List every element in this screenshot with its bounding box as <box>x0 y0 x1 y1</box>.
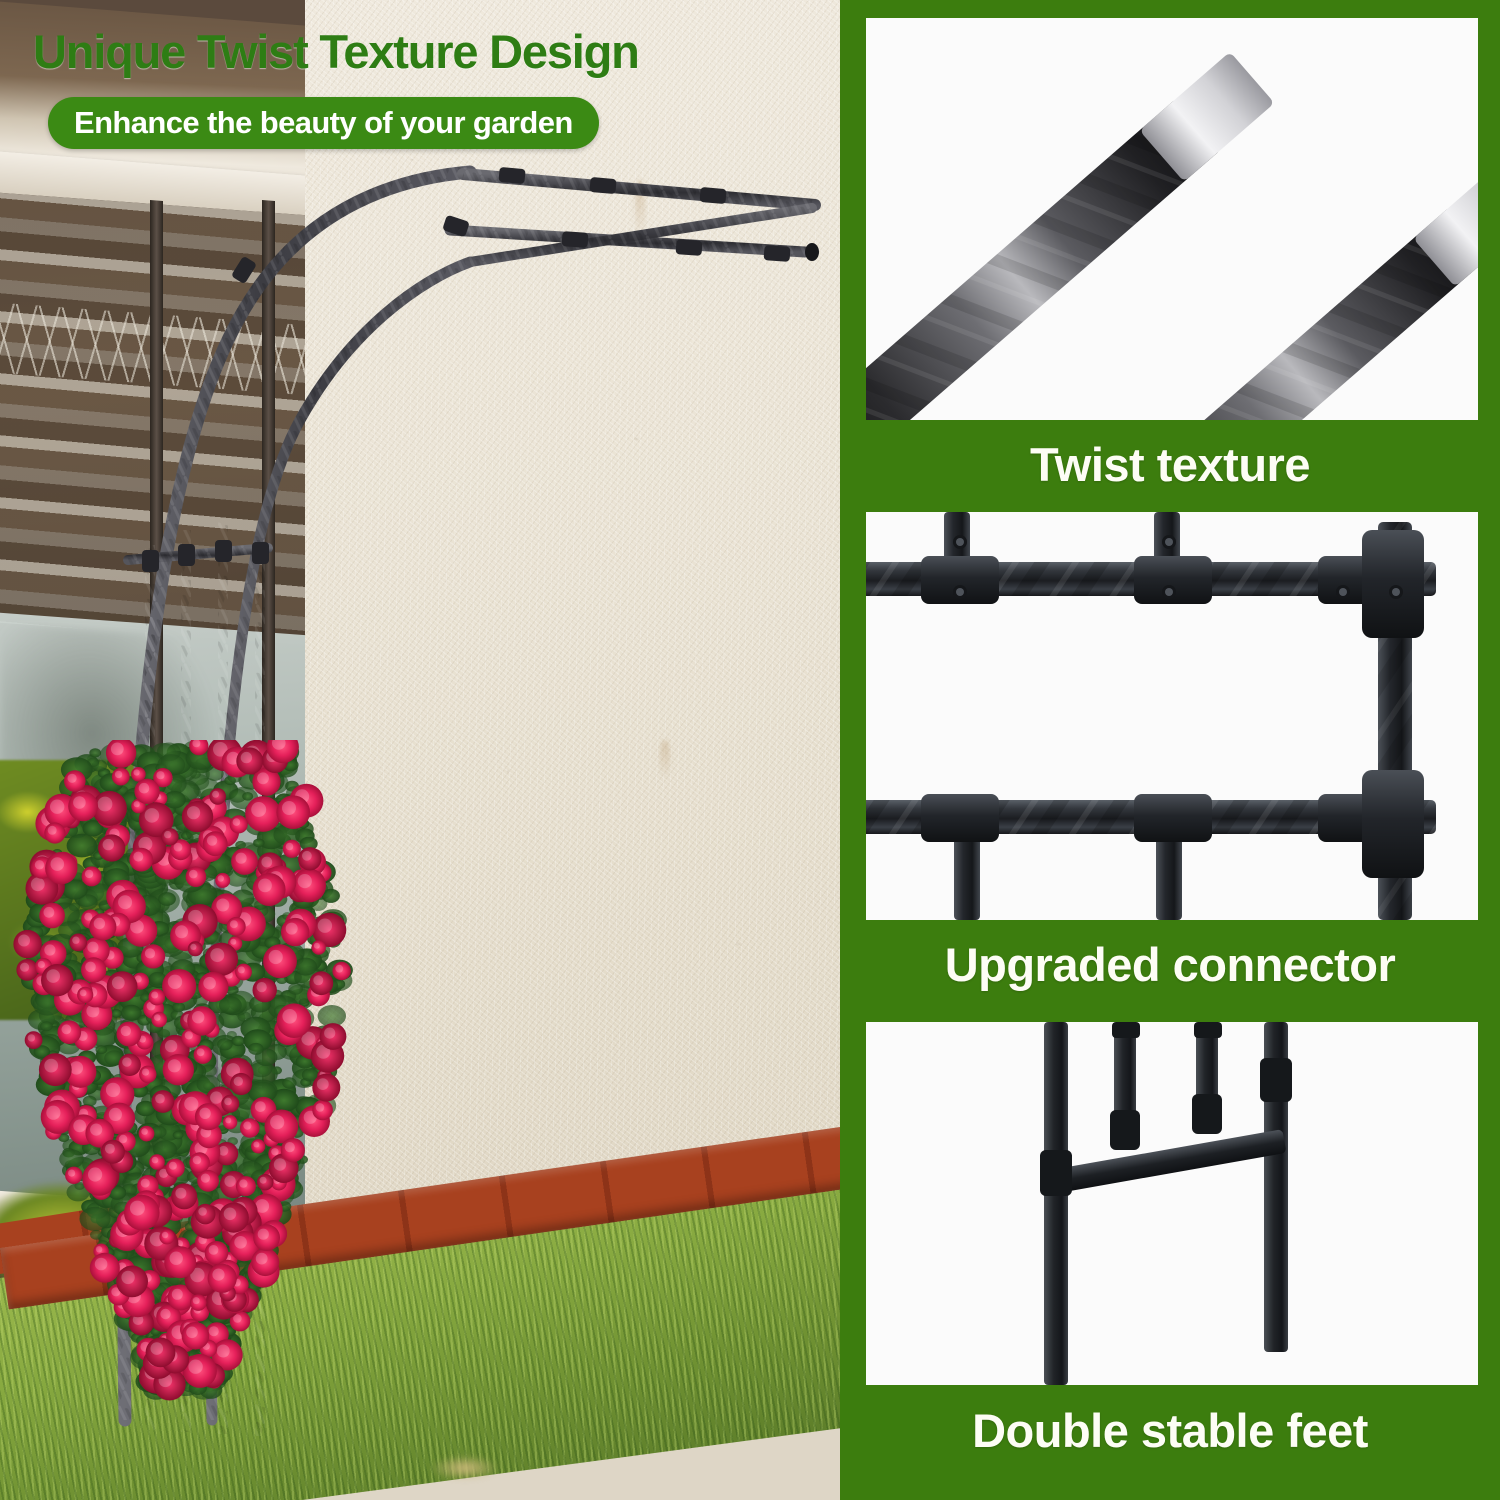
upgraded-connector-photo <box>866 512 1478 920</box>
climbing-rose-bush <box>0 740 400 1440</box>
feature-caption-upgraded-connector: Upgraded connector <box>840 937 1500 992</box>
twist-texture-photo <box>866 18 1478 420</box>
subtitle-badge-label: Enhance the beauty of your garden <box>74 105 573 141</box>
feature-tile-twist-texture <box>866 18 1478 420</box>
subtitle-badge: Enhance the beauty of your garden <box>48 97 599 149</box>
product-feature-infographic: Twist texture <box>0 0 1500 1500</box>
double-stable-feet-photo <box>866 1022 1478 1385</box>
feature-tile-double-stable-feet <box>866 1022 1478 1385</box>
feature-tile-upgraded-connector <box>866 512 1478 920</box>
feature-caption-double-stable-feet: Double stable feet <box>840 1403 1500 1458</box>
rose-foliage <box>0 740 400 1440</box>
hero-photo <box>0 0 840 1500</box>
page-title: Unique Twist Texture Design <box>33 24 639 79</box>
feature-panel: Twist texture <box>840 0 1500 1500</box>
feature-caption-twist-texture: Twist texture <box>840 437 1500 492</box>
